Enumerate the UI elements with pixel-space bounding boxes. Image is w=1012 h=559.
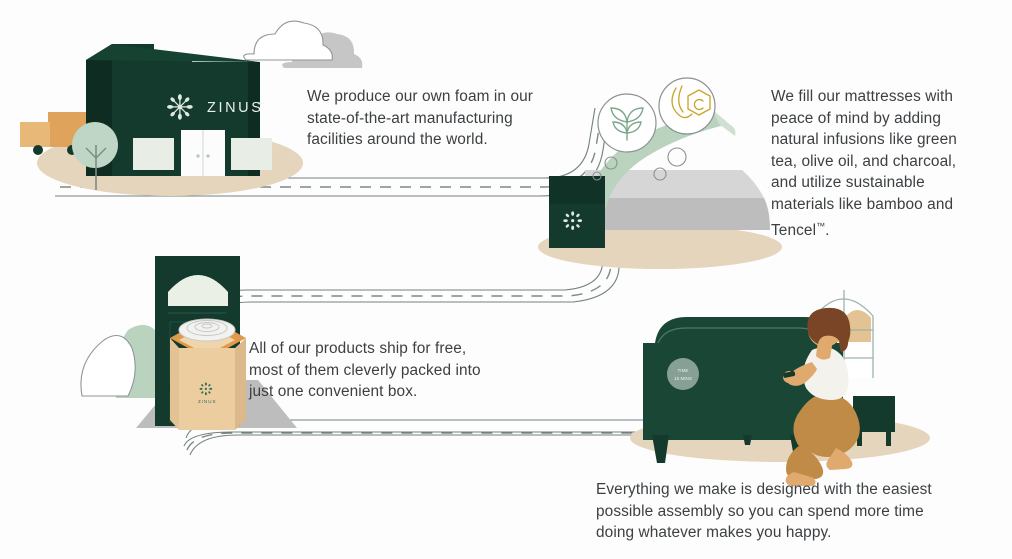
delivery-box: ZINUS bbox=[170, 319, 246, 430]
cloud-icon-group bbox=[244, 21, 363, 68]
badge-line-1: TIME bbox=[678, 368, 689, 373]
zinus-wordmark: ZINUS bbox=[207, 100, 264, 116]
infusions-text-end: . bbox=[825, 222, 829, 239]
badge-line-2: 15 MINS bbox=[674, 376, 692, 381]
mattress-base-layer bbox=[585, 198, 770, 230]
step-text-assembly: Everything we make is designed with the … bbox=[596, 479, 948, 544]
zinus-logo-on-mattress bbox=[563, 211, 582, 230]
infographic-illustration: ZINUS ™ bbox=[0, 0, 1012, 559]
tencel-trademark: ™ bbox=[816, 221, 825, 231]
scene-bedroom: TIME 15 MINS bbox=[630, 290, 930, 486]
charcoal-carbon-icon-bubble bbox=[659, 78, 715, 134]
box-body bbox=[179, 348, 235, 430]
step-text-manufacturing: We produce our own foam in our state-of-… bbox=[307, 86, 569, 151]
zinus-trademark: ™ bbox=[258, 101, 264, 108]
factory-window-left bbox=[133, 138, 174, 170]
step-text-infusions: We fill our mattresses with peace of min… bbox=[771, 86, 971, 241]
svg-text:ZINUS: ZINUS bbox=[198, 399, 217, 404]
infusions-text-main: We fill our mattresses with peace of min… bbox=[771, 88, 957, 239]
cloud-shape-left bbox=[81, 336, 135, 397]
zinus-logo-on-building bbox=[167, 94, 193, 120]
zinus-logo-on-box bbox=[200, 383, 213, 396]
factory-window-right bbox=[231, 138, 272, 170]
green-tea-leaf-icon-bubble bbox=[598, 94, 656, 152]
step-text-shipping: All of our products ship for free, most … bbox=[249, 338, 499, 403]
infographic-canvas: ZINUS ™ bbox=[0, 0, 1012, 559]
assembly-time-badge bbox=[667, 358, 699, 390]
scene-mattress bbox=[538, 78, 782, 269]
